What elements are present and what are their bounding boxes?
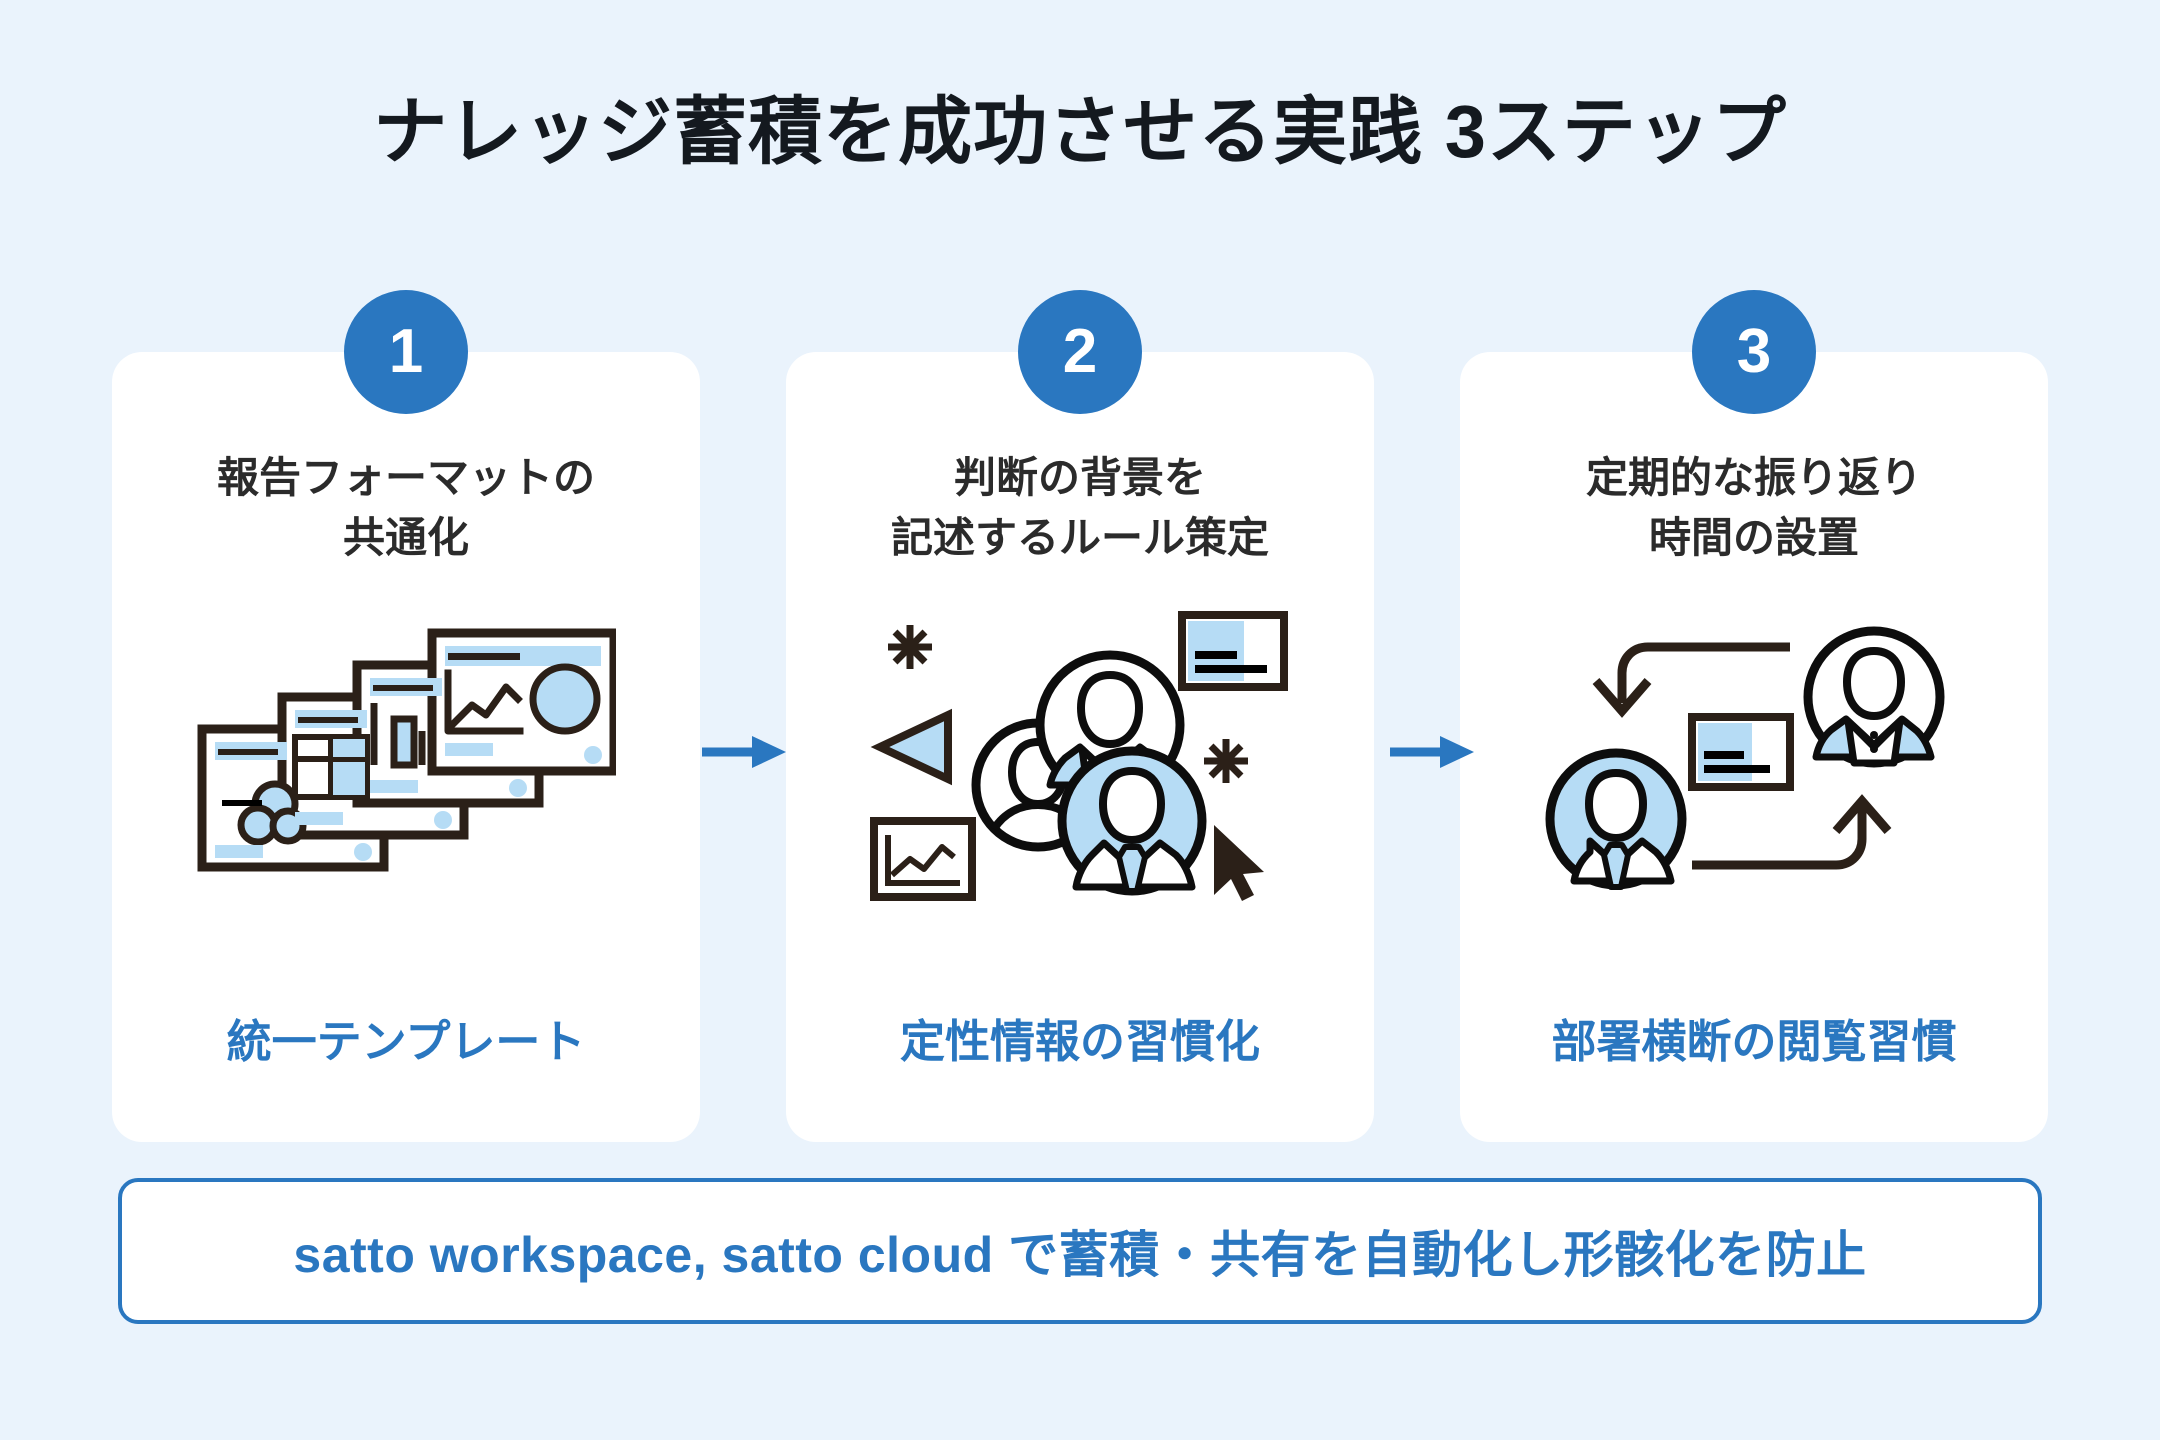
cursor-icon [1214, 825, 1264, 901]
footer-banner: satto workspace, satto cloud で蓄積・共有を自動化し… [118, 1178, 2042, 1324]
avatar-blue-tie [1062, 751, 1202, 891]
arrow-step1-to-step2 [700, 730, 790, 774]
cycle-arrow-bottom [1692, 801, 1888, 865]
step-tag-3: 部署横断の閲覧習慣 [1460, 1005, 2048, 1070]
step-number-badge-3: 3 [1692, 290, 1816, 414]
sparkle-icon [888, 625, 932, 669]
step-card-1: 1 報告フォーマットの 共通化 [112, 352, 700, 1142]
arrow-step2-to-step3 [1388, 730, 1478, 774]
step-tag-1: 統一テンプレート [112, 1005, 700, 1070]
step-card-2: 2 判断の背景を 記述するルール策定 [786, 352, 1374, 1142]
people-group-icon [786, 592, 1374, 922]
screen-icon [1692, 717, 1790, 787]
step-heading-3: 定期的な振り返り 時間の設置 [1460, 448, 2048, 567]
cycle-arrow-top [1596, 647, 1790, 711]
avatar-white-collar [1808, 631, 1940, 763]
step-heading-1: 報告フォーマットの 共通化 [112, 448, 700, 567]
chart-box-icon [874, 821, 972, 897]
step-tag-2: 定性情報の習慣化 [786, 1005, 1374, 1070]
screen-icon [1182, 615, 1284, 687]
knowledge-cycle-icon [1460, 592, 2048, 922]
infographic-page: ナレッジ蓄積を成功させる実践 3ステップ 1 報告フォーマットの 共通化 [0, 0, 2160, 1440]
avatar-blue-tie [1550, 753, 1682, 887]
steps-row: 1 報告フォーマットの 共通化 [112, 352, 2048, 1142]
stacked-documents-icon [112, 592, 700, 922]
step-heading-2: 判断の背景を 記述するルール策定 [786, 448, 1374, 567]
page-title: ナレッジ蓄積を成功させる実践 3ステップ [0, 88, 2160, 177]
step-number-badge-2: 2 [1018, 290, 1142, 414]
step-number-badge-1: 1 [344, 290, 468, 414]
footer-banner-text: satto workspace, satto cloud で蓄積・共有を自動化し… [293, 1215, 1866, 1287]
step-card-3: 3 定期的な振り返り 時間の設置 [1460, 352, 2048, 1142]
sparkle-icon [1204, 739, 1248, 783]
